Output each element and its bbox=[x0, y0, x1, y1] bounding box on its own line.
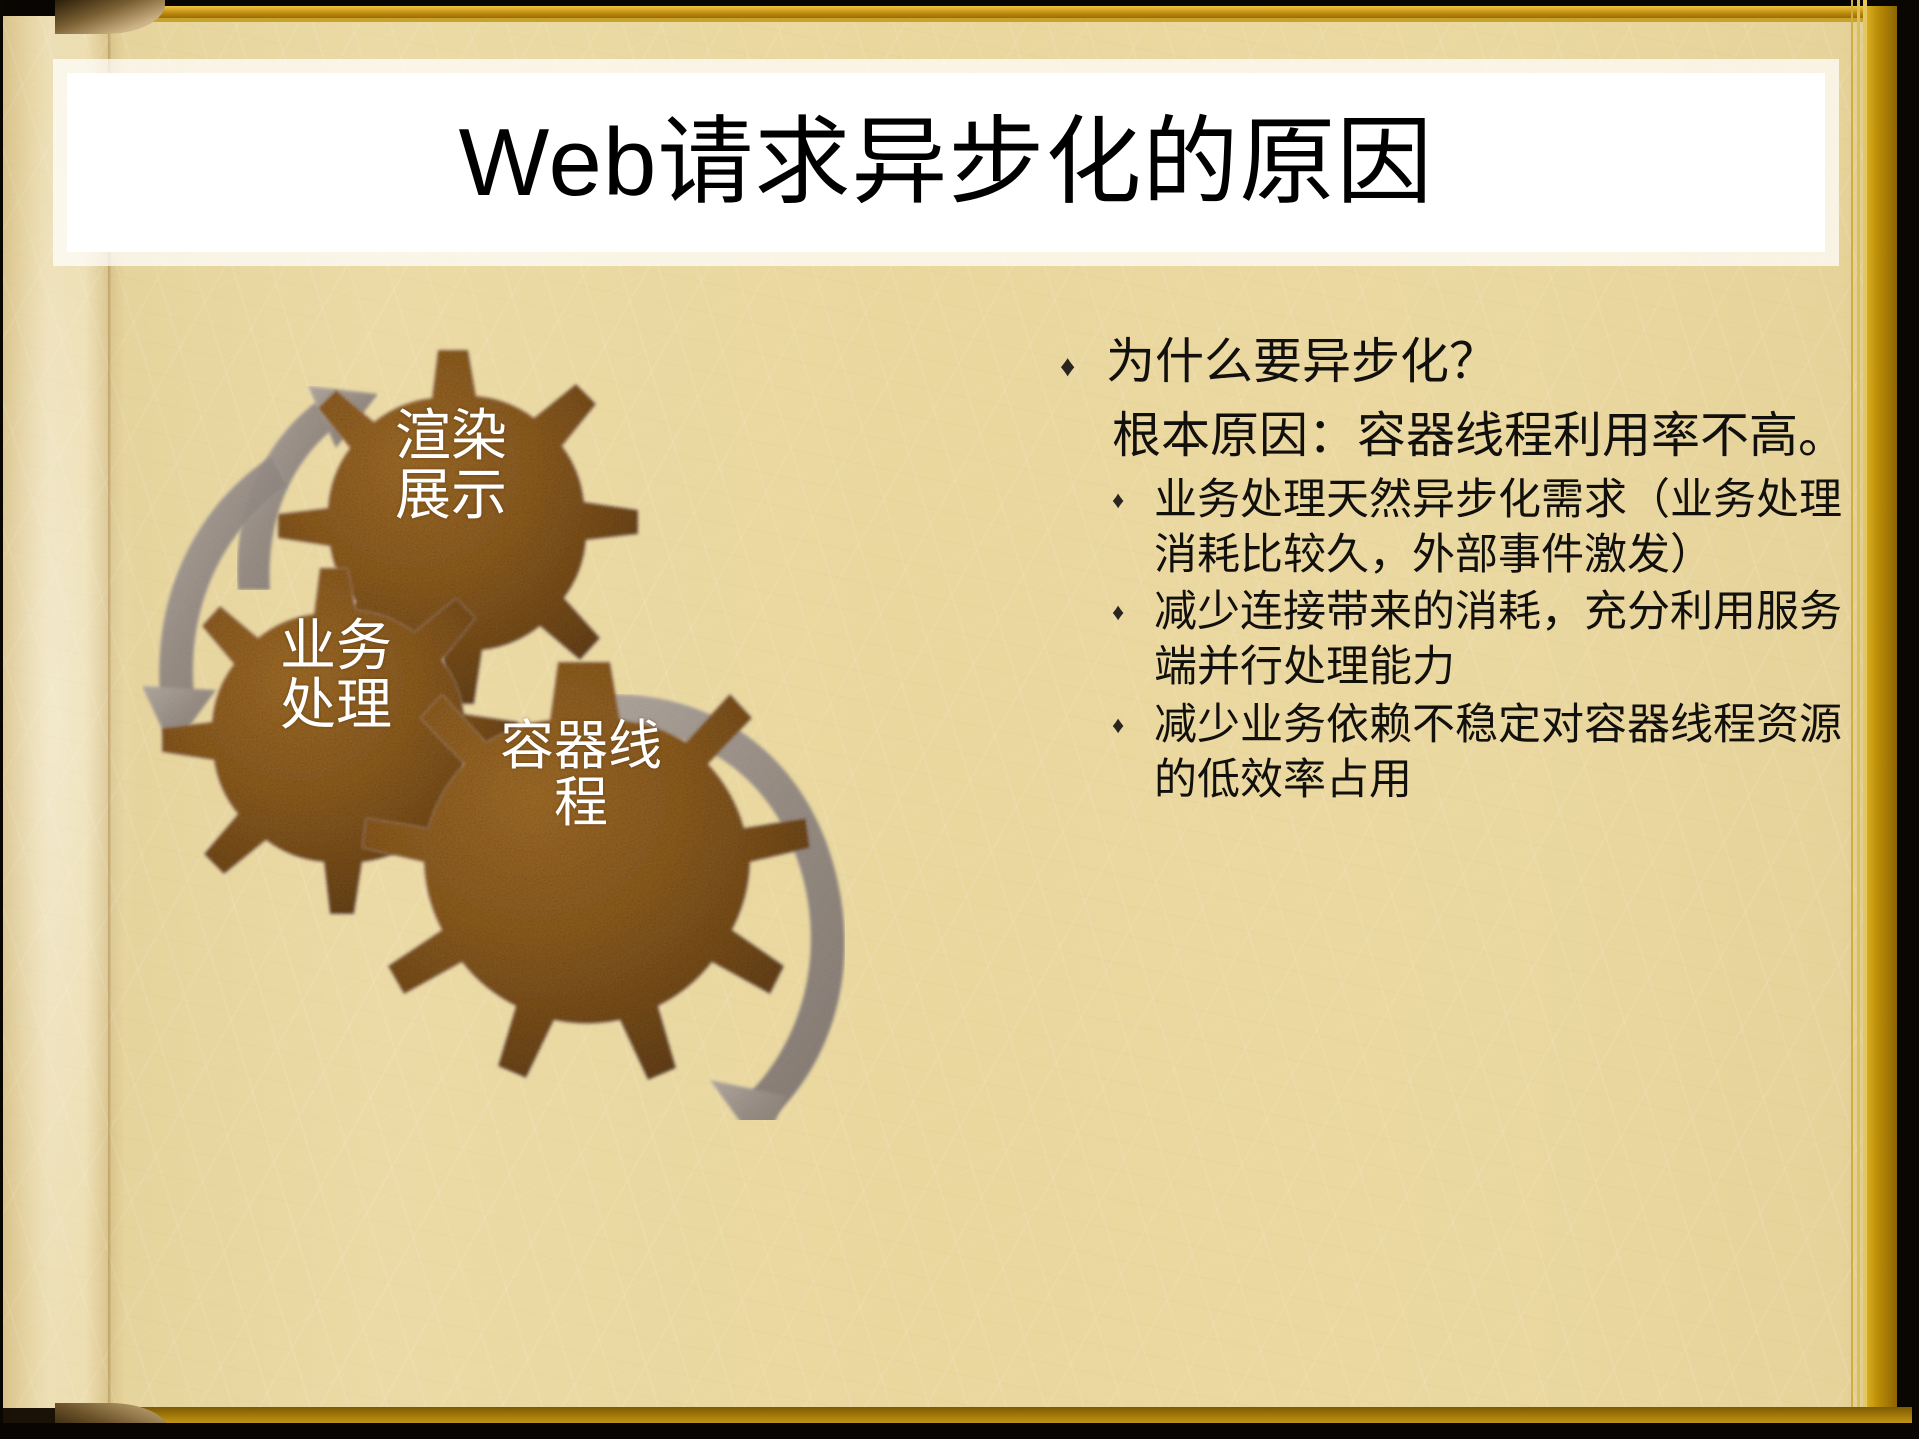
right-gold-border bbox=[1867, 6, 1897, 1424]
list-item: ♦ 减少业务依赖不稳定对容器线程资源的低效率占用 bbox=[1060, 698, 1850, 808]
gear-render-label: 渲染 展示 bbox=[326, 408, 576, 526]
list-item: 根本原因：容器线程利用率不高。 bbox=[1060, 404, 1850, 468]
content-placeholder[interactable]: ♦ 为什么要异步化？ 根本原因：容器线程利用率不高。 ♦ 业务处理天然异步化需求… bbox=[1060, 330, 1850, 810]
list-item-label: 业务处理天然异步化需求（业务处理消耗比较久，外部事件激发） bbox=[1154, 473, 1850, 583]
diamond-bullet-icon: ♦ bbox=[1060, 330, 1106, 382]
gear-diagram: 渲染 展示 业务 处理 容器线 程 bbox=[120, 290, 980, 1120]
list-item-label: 根本原因：容器线程利用率不高。 bbox=[1060, 404, 1850, 468]
presentation-slide: Web请求异步化的原因 bbox=[0, 0, 1919, 1439]
bottom-dark-edge bbox=[0, 1423, 1919, 1439]
top-gold-border-accent bbox=[112, 18, 1912, 22]
list-item-label: 为什么要异步化？ bbox=[1106, 330, 1850, 394]
list-item-label: 减少连接带来的消耗，充分利用服务端并行处理能力 bbox=[1154, 585, 1850, 695]
gear-container-label: 容器线 程 bbox=[446, 718, 716, 831]
diamond-bullet-icon: ♦ bbox=[1112, 473, 1154, 513]
list-item: ♦ 减少连接带来的消耗，充分利用服务端并行处理能力 bbox=[1060, 585, 1850, 695]
title-placeholder[interactable]: Web请求异步化的原因 bbox=[67, 73, 1825, 252]
list-item: ♦ 为什么要异步化？ bbox=[1060, 330, 1850, 394]
left-dark-edge bbox=[0, 0, 3, 1439]
diamond-bullet-icon: ♦ bbox=[1112, 698, 1154, 738]
page-title: Web请求异步化的原因 bbox=[459, 115, 1434, 211]
diamond-bullet-icon: ♦ bbox=[1112, 585, 1154, 625]
list-item: ♦ 业务处理天然异步化需求（业务处理消耗比较久，外部事件激发） bbox=[1060, 473, 1850, 583]
right-border-line-3 bbox=[1851, 0, 1853, 1439]
list-item-label: 减少业务依赖不稳定对容器线程资源的低效率占用 bbox=[1154, 698, 1850, 808]
right-border-line-2 bbox=[1857, 0, 1860, 1439]
gear-business-label: 业务 处理 bbox=[216, 618, 456, 736]
